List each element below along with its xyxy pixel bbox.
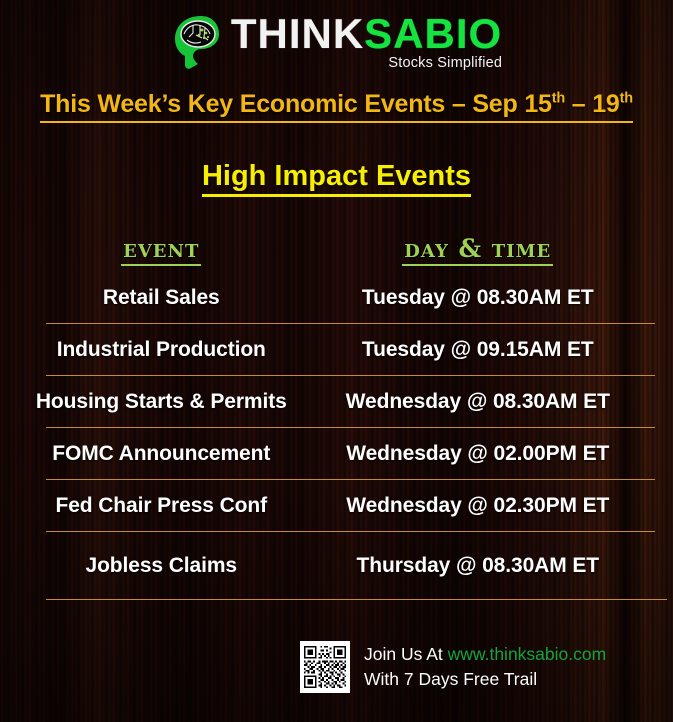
table-row: Industrial Production Tuesday @ 09.15AM … xyxy=(22,324,655,376)
table-row: Jobless Claims Thursday @ 08.30AM ET xyxy=(22,532,655,600)
table-header-row: EVENT DAY & TIME xyxy=(22,228,655,272)
join-us-line: Join Us At www.thinksabio.com xyxy=(364,642,606,667)
join-us-label: Join Us At xyxy=(364,644,448,664)
table-row: FOMC Announcement Wednesday @ 02.00PM ET xyxy=(22,428,655,480)
cell-day-time: Wednesday @ 08.30AM ET xyxy=(301,390,655,414)
page-title-sup-1: th xyxy=(552,91,565,107)
cell-event: Fed Chair Press Conf xyxy=(22,494,301,518)
qr-code-icon[interactable] xyxy=(300,641,350,693)
cell-event: Retail Sales xyxy=(22,286,301,310)
cell-event: Housing Starts & Permits xyxy=(22,390,301,414)
cell-day-time: Tuesday @ 08.30AM ET xyxy=(301,286,655,310)
row-separator xyxy=(46,599,667,600)
cell-day-time: Wednesday @ 02.30PM ET xyxy=(301,494,655,518)
column-header-day-time: DAY & TIME xyxy=(301,234,655,266)
logo-think-text: THINK xyxy=(231,13,364,55)
cell-event: FOMC Announcement xyxy=(22,442,301,466)
poster-canvas: THINKSABIO Stocks Simplified This Week’s… xyxy=(0,0,673,722)
table-row: Retail Sales Tuesday @ 08.30AM ET xyxy=(22,272,655,324)
footer-cta: Join Us At www.thinksabio.com With 7 Day… xyxy=(300,641,606,693)
free-trial-label: With 7 Days Free Trail xyxy=(364,667,606,692)
section-title-text: High Impact Events xyxy=(202,160,471,197)
page-title-sup-2: th xyxy=(620,91,633,107)
page-title-main: This Week’s Key Economic Events – Sep 15 xyxy=(40,90,552,118)
brand-logo: THINKSABIO Stocks Simplified xyxy=(0,4,673,80)
cell-day-time: Wednesday @ 02.00PM ET xyxy=(301,442,655,466)
cell-day-time: Tuesday @ 09.15AM ET xyxy=(301,338,655,362)
cell-day-time: Thursday @ 08.30AM ET xyxy=(301,554,655,578)
logo-sabio-text: SABIO xyxy=(364,13,502,55)
column-header-event: EVENT xyxy=(22,234,301,266)
table-row: Fed Chair Press Conf Wednesday @ 02.30PM… xyxy=(22,480,655,532)
website-link[interactable]: www.thinksabio.com xyxy=(448,644,607,664)
section-title: High Impact Events xyxy=(0,160,673,197)
cell-event: Jobless Claims xyxy=(22,554,301,578)
table-row: Housing Starts & Permits Wednesday @ 08.… xyxy=(22,376,655,428)
brain-head-icon xyxy=(171,13,227,71)
page-title: This Week’s Key Economic Events – Sep 15… xyxy=(0,90,673,123)
logo-tagline: Stocks Simplified xyxy=(388,56,502,71)
page-title-middle: – 19 xyxy=(565,90,620,118)
events-table: EVENT DAY & TIME Retail Sales Tuesday @ … xyxy=(22,228,655,600)
cell-event: Industrial Production xyxy=(22,338,301,362)
